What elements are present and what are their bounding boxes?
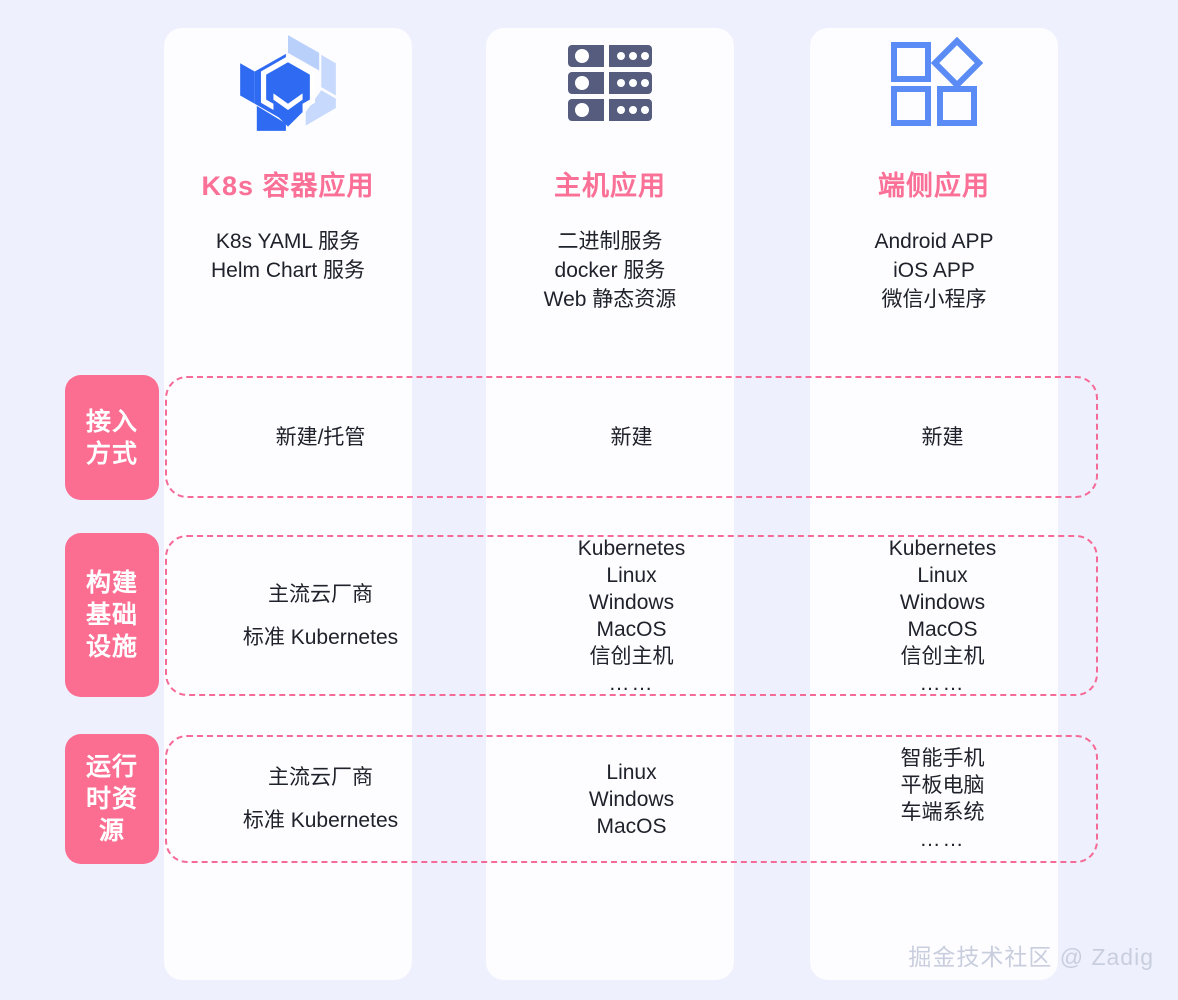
column-subitem: K8s YAML 服务 xyxy=(211,227,365,256)
cell-line: Windows xyxy=(900,589,985,616)
row-cells-build: 主流云厂商 标准 Kubernetes Kubernetes Linux Win… xyxy=(165,535,1098,696)
cell-line: 信创主机 xyxy=(901,643,985,670)
cell-line: Linux xyxy=(917,562,967,589)
row-label-line: 构建 xyxy=(86,567,138,599)
cell-line: Kubernetes xyxy=(578,535,685,562)
row-label-line: 源 xyxy=(86,815,138,847)
cell-line: 新建 xyxy=(611,424,653,451)
row-label-build: 构建 基础 设施 xyxy=(65,533,159,697)
row-label-line: 基础 xyxy=(86,599,138,631)
column-header-host: 主机应用 二进制服务 docker 服务 Web 静态资源 xyxy=(486,24,734,314)
cell-line: Windows xyxy=(589,589,674,616)
cube-hexagon-icon xyxy=(236,24,340,142)
column-subitem: Helm Chart 服务 xyxy=(211,256,365,285)
row-label-line: 时资 xyxy=(86,783,138,815)
cell-line-ellipsis: …… xyxy=(609,670,655,697)
column-header-k8s: K8s 容器应用 K8s YAML 服务 Helm Chart 服务 xyxy=(164,24,412,285)
cell-line: MacOS xyxy=(596,813,666,840)
row-cells-access: 新建/托管 新建 新建 xyxy=(165,376,1098,498)
column-header-client: 端侧应用 Android APP iOS APP 微信小程序 xyxy=(810,24,1058,314)
cell-runtime-host: Linux Windows MacOS xyxy=(476,735,787,863)
cell-line: Linux xyxy=(606,562,656,589)
column-subitem: 微信小程序 xyxy=(874,285,993,314)
cell-line: Windows xyxy=(589,786,674,813)
cell-line: 信创主机 xyxy=(590,643,674,670)
column-subitems: 二进制服务 docker 服务 Web 静态资源 xyxy=(544,227,677,314)
cell-line: 车端系统 xyxy=(901,799,985,826)
watermark: 掘金技术社区 @ Zadig xyxy=(908,938,1154,972)
column-subitem: iOS APP xyxy=(874,256,993,285)
column-subitems: K8s YAML 服务 Helm Chart 服务 xyxy=(211,227,365,285)
row-label-line: 接入 xyxy=(86,406,138,438)
app-grid-icon xyxy=(884,24,984,142)
cell-line: 新建 xyxy=(922,424,964,451)
column-subitems: Android APP iOS APP 微信小程序 xyxy=(874,227,993,314)
cell-build-client: Kubernetes Linux Windows MacOS 信创主机 …… xyxy=(787,535,1098,696)
cell-line: 智能手机 xyxy=(901,745,985,772)
column-title: K8s 容器应用 xyxy=(201,164,374,203)
column-subitem: 二进制服务 xyxy=(544,227,677,256)
cell-line-ellipsis: …… xyxy=(920,670,966,697)
row-label-runtime: 运行 时资 源 xyxy=(65,734,159,864)
cell-build-k8s: 主流云厂商 标准 Kubernetes xyxy=(165,535,476,696)
row-cells-runtime: 主流云厂商 标准 Kubernetes Linux Windows MacOS … xyxy=(165,735,1098,863)
column-subitem: Web 静态资源 xyxy=(544,285,677,314)
row-label-line: 设施 xyxy=(86,631,138,663)
server-rack-icon xyxy=(560,24,660,142)
row-label-line: 运行 xyxy=(86,751,138,783)
cell-access-client: 新建 xyxy=(787,376,1098,498)
cell-line: 主流云厂商 xyxy=(268,764,373,791)
cell-line: 主流云厂商 xyxy=(268,581,373,608)
cell-line: Linux xyxy=(606,759,656,786)
cell-line: 新建/托管 xyxy=(276,424,366,451)
row-label-access: 接入 方式 xyxy=(65,375,159,500)
cell-line: 标准 Kubernetes xyxy=(243,807,398,834)
cell-access-k8s: 新建/托管 xyxy=(165,376,476,498)
cell-runtime-k8s: 主流云厂商 标准 Kubernetes xyxy=(165,735,476,863)
cell-line: MacOS xyxy=(596,616,666,643)
cell-line: MacOS xyxy=(907,616,977,643)
cell-line: 标准 Kubernetes xyxy=(243,624,398,651)
cell-line: Kubernetes xyxy=(889,535,996,562)
row-label-line: 方式 xyxy=(86,438,138,470)
column-title: 主机应用 xyxy=(554,164,666,203)
cell-access-host: 新建 xyxy=(476,376,787,498)
column-subitem: docker 服务 xyxy=(544,256,677,285)
diagram-canvas: K8s 容器应用 K8s YAML 服务 Helm Chart 服务 xyxy=(0,0,1178,1000)
cell-line: 平板电脑 xyxy=(901,772,985,799)
column-subitem: Android APP xyxy=(874,227,993,256)
column-title: 端侧应用 xyxy=(878,164,990,203)
cell-runtime-client: 智能手机 平板电脑 车端系统 …… xyxy=(787,735,1098,863)
cell-build-host: Kubernetes Linux Windows MacOS 信创主机 …… xyxy=(476,535,787,696)
cell-line-ellipsis: …… xyxy=(920,826,966,853)
